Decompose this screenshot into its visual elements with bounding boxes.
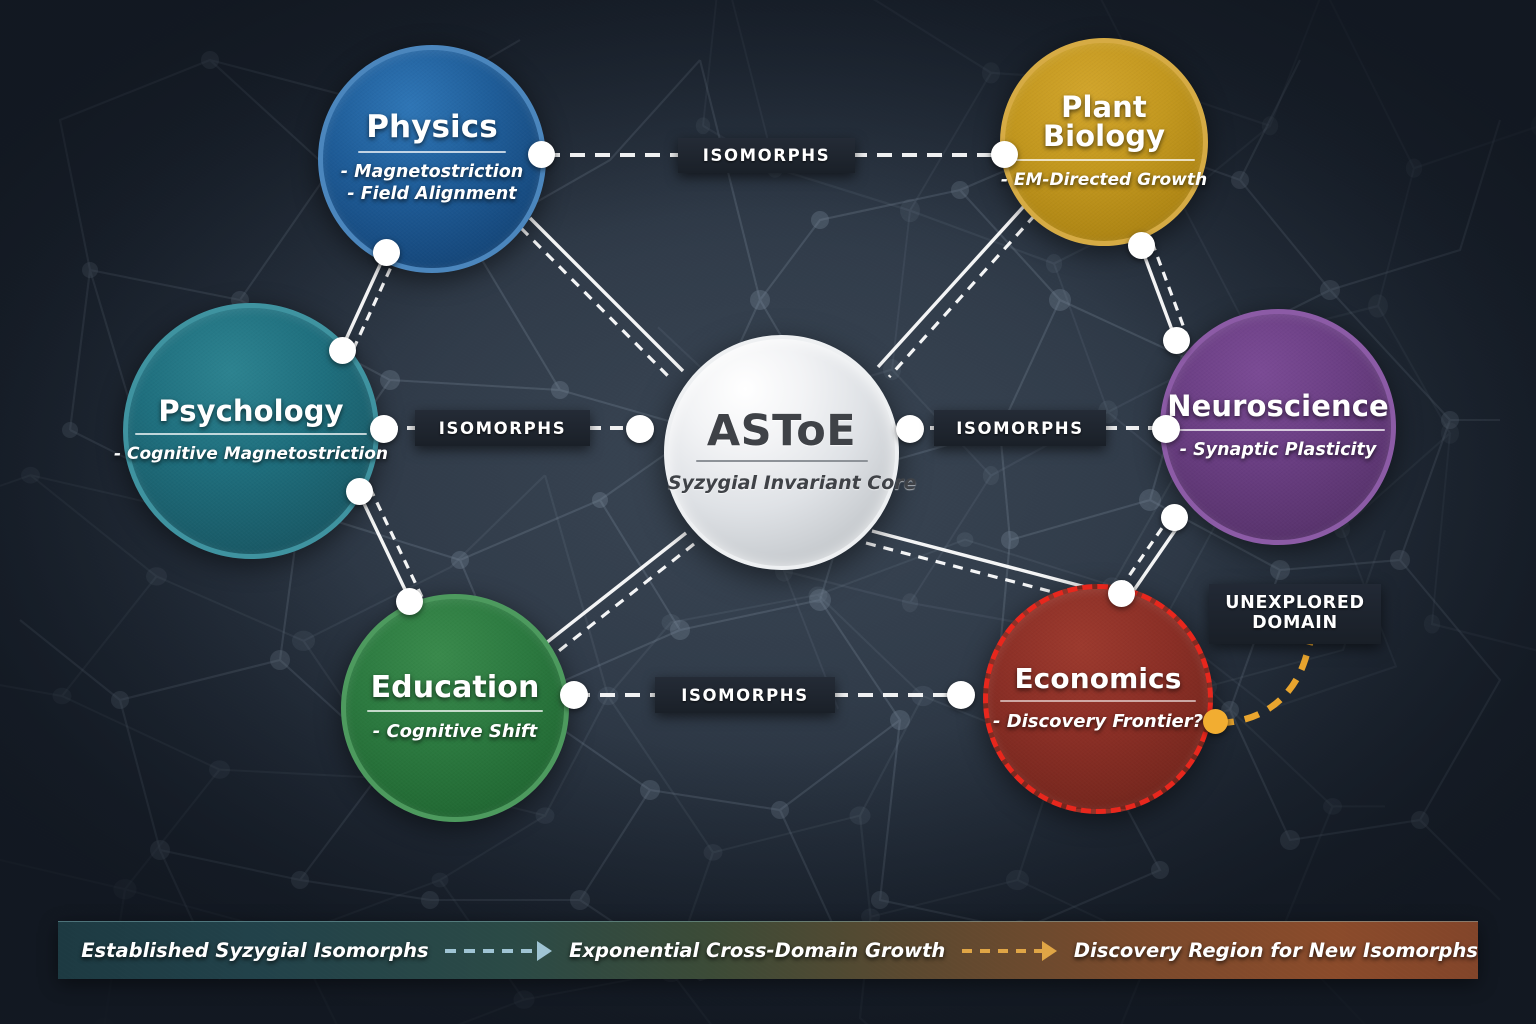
node-title: Neuroscience (1103, 392, 1453, 422)
connector-dot-neuroscience-topleft (1163, 327, 1190, 354)
isomorphs-label-top: ISOMORPHS (678, 138, 855, 173)
isomorphs-text: ISOMORPHS (439, 419, 566, 438)
node-physics[interactable]: Physics - Magnetostriction - Field Align… (318, 45, 546, 273)
legend-label-discovery: Discovery Region for New Isomorphs (1074, 939, 1478, 962)
node-economics[interactable]: Economics - Discovery Frontier? (983, 584, 1213, 814)
legend-label-established: Established Syzygial Isomorphs (81, 939, 428, 962)
node-divider (135, 433, 367, 435)
node-divider (367, 710, 543, 712)
isomorphs-text: ISOMORPHS (681, 686, 808, 705)
node-item: - Synaptic Plasticity (1103, 439, 1453, 462)
connector-dot-neuroscience-left (1152, 415, 1180, 443)
diagram-canvas: Physics - Magnetostriction - Field Align… (0, 0, 1536, 1024)
unexplored-domain-line2: DOMAIN (1252, 614, 1338, 634)
connector-dot-education-topleft (396, 588, 423, 615)
isomorphs-label-bottom: ISOMORPHS (655, 677, 835, 713)
core-divider (696, 460, 868, 462)
connector-dot-psychology-bottomright (346, 478, 373, 505)
connector-dot-psychology-topright (329, 337, 356, 364)
unexplored-domain-badge: UNEXPLORED DOMAIN (1209, 584, 1381, 644)
isomorphs-text: ISOMORPHS (703, 146, 830, 165)
legend-label-exponential: Exponential Cross-Domain Growth (569, 939, 945, 962)
node-education[interactable]: Education - Cognitive Shift (341, 594, 569, 822)
connector-dot-plantbio-left (991, 141, 1018, 168)
node-divider (1171, 429, 1385, 431)
connector-dot-psychology-right (370, 415, 398, 443)
connector-dot-economics-left (947, 681, 975, 709)
node-divider (1013, 159, 1195, 161)
node-divider (1000, 700, 1196, 702)
connector-dot-economics-top (1108, 580, 1135, 607)
node-core-astoe[interactable]: ASToE Syzygial Invariant Core (664, 335, 899, 570)
connector-dot-core-right (896, 415, 924, 443)
node-title: Physics (263, 112, 601, 144)
node-item: - Cognitive Magnetostriction (60, 443, 441, 465)
legend-arrow-exponential (962, 941, 1057, 961)
connector-dot-education-right (560, 681, 588, 709)
node-divider (358, 151, 506, 153)
connector-dot-core-left (626, 415, 654, 443)
legend-arrow-established (445, 941, 552, 961)
node-title: Economics (928, 665, 1269, 694)
isomorphs-label-left: ISOMORPHS (415, 410, 590, 446)
connector-dot-neuroscience-bottomleft (1161, 504, 1188, 531)
node-item: - Cognitive Shift (286, 720, 624, 743)
node-item: - EM-Directed Growth (951, 169, 1258, 191)
connector-dot-plantbio-bottom (1128, 232, 1155, 259)
unexplored-domain-line1: UNEXPLORED (1225, 594, 1365, 614)
core-title: ASToE (668, 410, 895, 454)
node-item: - Field Alignment (263, 183, 601, 206)
connector-dot-physics-bottomleft (373, 239, 400, 266)
legend-bar: Established Syzygial Isomorphs Exponenti… (58, 921, 1478, 979)
isomorphs-label-right: ISOMORPHS (934, 410, 1106, 446)
core-subtitle: Syzygial Invariant Core (668, 471, 895, 496)
connector-dot-physics-right (528, 141, 555, 168)
connector-dot-unexplored-amber (1203, 709, 1228, 734)
node-plant-biology[interactable]: Plant Biology - EM-Directed Growth (1000, 38, 1208, 246)
isomorphs-text: ISOMORPHS (956, 419, 1083, 438)
node-neuroscience[interactable]: Neuroscience - Synaptic Plasticity (1160, 309, 1396, 545)
